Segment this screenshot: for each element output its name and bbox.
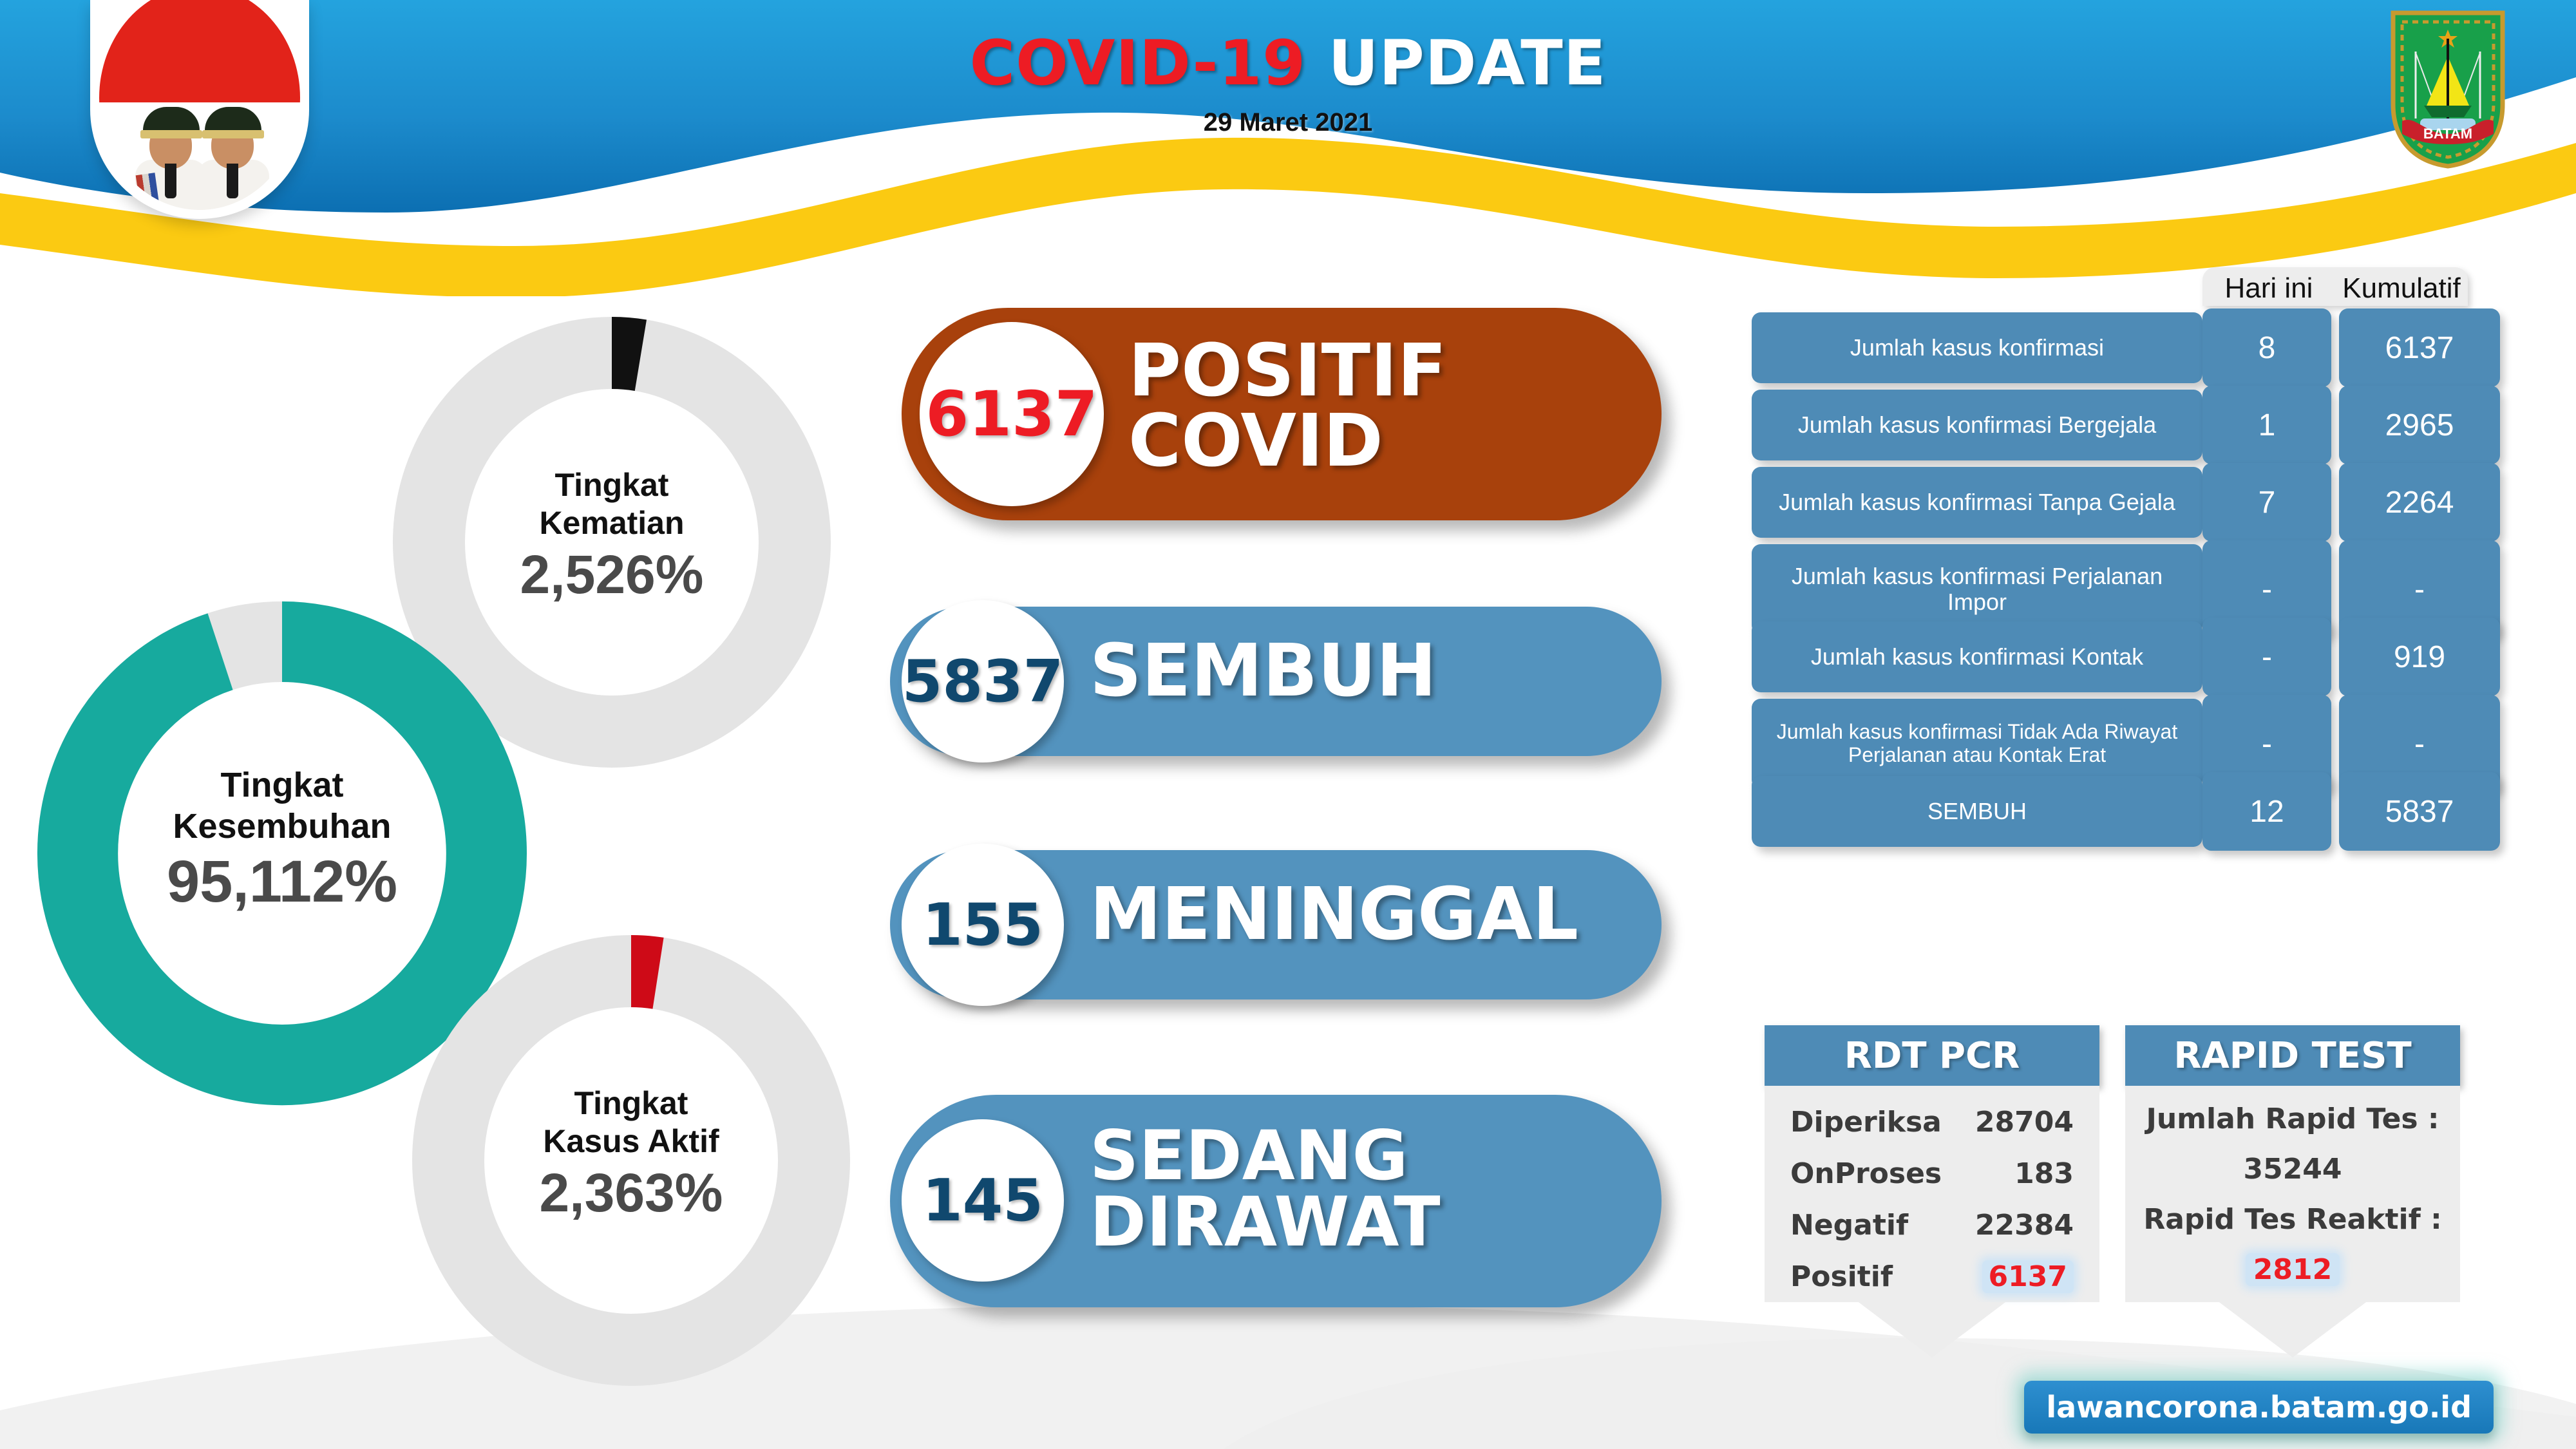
stat-3-line1: SEDANG bbox=[1090, 1123, 1441, 1189]
rdt-pcr-row: Negatif22384 bbox=[1765, 1199, 2099, 1251]
stat-3-line2: DIRAWAT bbox=[1090, 1189, 1441, 1256]
page-title: COVID-19 UPDATE 29 Maret 2021 bbox=[0, 32, 2576, 137]
rdt-pcr-row: OnProses183 bbox=[1765, 1148, 2099, 1199]
donut-tingkat-kasus-aktif: Tingkat Kasus Aktif 2,363% bbox=[412, 935, 850, 1386]
table-cell-hari-ini: 12 bbox=[2202, 772, 2331, 851]
rdt-pcr-row-label: Negatif bbox=[1790, 1209, 1908, 1242]
title-covid: COVID-19 bbox=[970, 27, 1306, 99]
table-row-label: SEMBUH bbox=[1752, 776, 2202, 847]
rapid-test-title: RAPID TEST bbox=[2125, 1025, 2460, 1086]
table-row-label: Jumlah kasus konfirmasi Tidak Ada Riwaya… bbox=[1752, 699, 2202, 789]
rdt-pcr-title: RDT PCR bbox=[1765, 1025, 2099, 1086]
rdt-pcr-row-value: 22384 bbox=[1975, 1209, 2074, 1242]
table-cell-kumulatif: 2965 bbox=[2339, 386, 2500, 464]
table-row-label: Jumlah kasus konfirmasi Tanpa Gejala bbox=[1752, 467, 2202, 538]
table-cell-kumulatif: 6137 bbox=[2339, 308, 2500, 387]
table-cell-kumulatif: 2264 bbox=[2339, 463, 2500, 542]
rapid-test-line: Rapid Tes Reaktif : bbox=[2125, 1203, 2460, 1253]
website-url-badge[interactable]: lawancorona.batam.go.id bbox=[2024, 1381, 2494, 1434]
rdt-pcr-row-value: 28704 bbox=[1975, 1106, 2074, 1139]
table-cell-hari-ini: - bbox=[2202, 618, 2331, 696]
donut-0-value: 2,526% bbox=[393, 545, 831, 604]
rapid-test-line-text: 35244 bbox=[2243, 1153, 2342, 1186]
stat-3-number: 145 bbox=[922, 1167, 1043, 1235]
rapid-test-line-text: Rapid Tes Reaktif : bbox=[2143, 1203, 2441, 1236]
rdt-pcr-row-label: Diperiksa bbox=[1790, 1106, 1942, 1139]
table-cell-kumulatif: 919 bbox=[2339, 618, 2500, 696]
rdt-pcr-row: Positif6137 bbox=[1765, 1251, 2099, 1302]
donut-1-line1: Tingkat bbox=[220, 766, 343, 804]
rapid-test-line: 35244 bbox=[2125, 1153, 2460, 1203]
stat-0-number: 6137 bbox=[925, 378, 1097, 450]
rapid-test-line-text: 2812 bbox=[2246, 1253, 2340, 1286]
rapid-test-line: Jumlah Rapid Tes : bbox=[2125, 1103, 2460, 1153]
donut-0-line2: Kematian bbox=[539, 505, 684, 541]
donut-1-line2: Kesembuhan bbox=[173, 807, 391, 846]
table-cell-hari-ini: 7 bbox=[2202, 463, 2331, 542]
stat-card-positif-covid[interactable]: 6137 POSITIF COVID bbox=[902, 308, 1662, 520]
stat-0-line1: POSITIF bbox=[1128, 336, 1446, 406]
rapid-test-line: 2812 bbox=[2125, 1253, 2460, 1303]
table-col-hari-ini: Hari ini bbox=[2202, 267, 2335, 306]
stat-card-meninggal[interactable]: 155 MENINGGAL bbox=[890, 850, 1662, 999]
table-row-label: Jumlah kasus konfirmasi Kontak bbox=[1752, 621, 2202, 692]
rdt-pcr-row-label: OnProses bbox=[1790, 1157, 1942, 1190]
donut-2-line1: Tingkat bbox=[574, 1085, 688, 1121]
stat-1-number: 5837 bbox=[902, 648, 1064, 715]
stat-2-line1: MENINGGAL bbox=[1090, 880, 1578, 950]
table-row-label: Jumlah kasus konfirmasi bbox=[1752, 312, 2202, 383]
rapid-test-line-text: Jumlah Rapid Tes : bbox=[2146, 1103, 2439, 1135]
table-col-kumulatif: Kumulatif bbox=[2335, 267, 2468, 306]
table-cell-kumulatif: 5837 bbox=[2339, 772, 2500, 851]
rdt-pcr-row-label: Positif bbox=[1790, 1260, 1893, 1293]
donut-1-value: 95,112% bbox=[37, 849, 527, 914]
table-row-label: Jumlah kasus konfirmasi Bergejala bbox=[1752, 390, 2202, 460]
report-date: 29 Maret 2021 bbox=[0, 108, 2576, 137]
table-cell-hari-ini: 1 bbox=[2202, 386, 2331, 464]
stat-2-number: 155 bbox=[922, 891, 1043, 959]
table-cell-hari-ini: 8 bbox=[2202, 308, 2331, 387]
title-update: UPDATE bbox=[1328, 27, 1606, 99]
table-row-label: Jumlah kasus konfirmasi Perjalanan Impor bbox=[1752, 544, 2202, 634]
rdt-pcr-row: Diperiksa28704 bbox=[1765, 1096, 2099, 1148]
donut-0-line1: Tingkat bbox=[555, 467, 669, 503]
infographic-root: BATAM COVID-19 UPDATE 29 Maret 2021 Ting… bbox=[0, 0, 2576, 1449]
donut-2-value: 2,363% bbox=[412, 1163, 850, 1222]
donut-2-line2: Kasus Aktif bbox=[543, 1123, 719, 1159]
stat-1-line1: SEMBUH bbox=[1090, 636, 1437, 706]
rdt-pcr-row-value: 183 bbox=[2014, 1157, 2074, 1190]
rdt-pcr-row-value: 6137 bbox=[1982, 1260, 2074, 1293]
stat-card-sembuh[interactable]: 5837 SEMBUH bbox=[890, 607, 1662, 756]
stat-0-line2: COVID bbox=[1128, 406, 1446, 477]
table-header: Hari ini Kumulatif bbox=[2202, 267, 2468, 306]
stat-card-sedang-dirawat[interactable]: 145 SEDANG DIRAWAT bbox=[890, 1095, 1662, 1307]
